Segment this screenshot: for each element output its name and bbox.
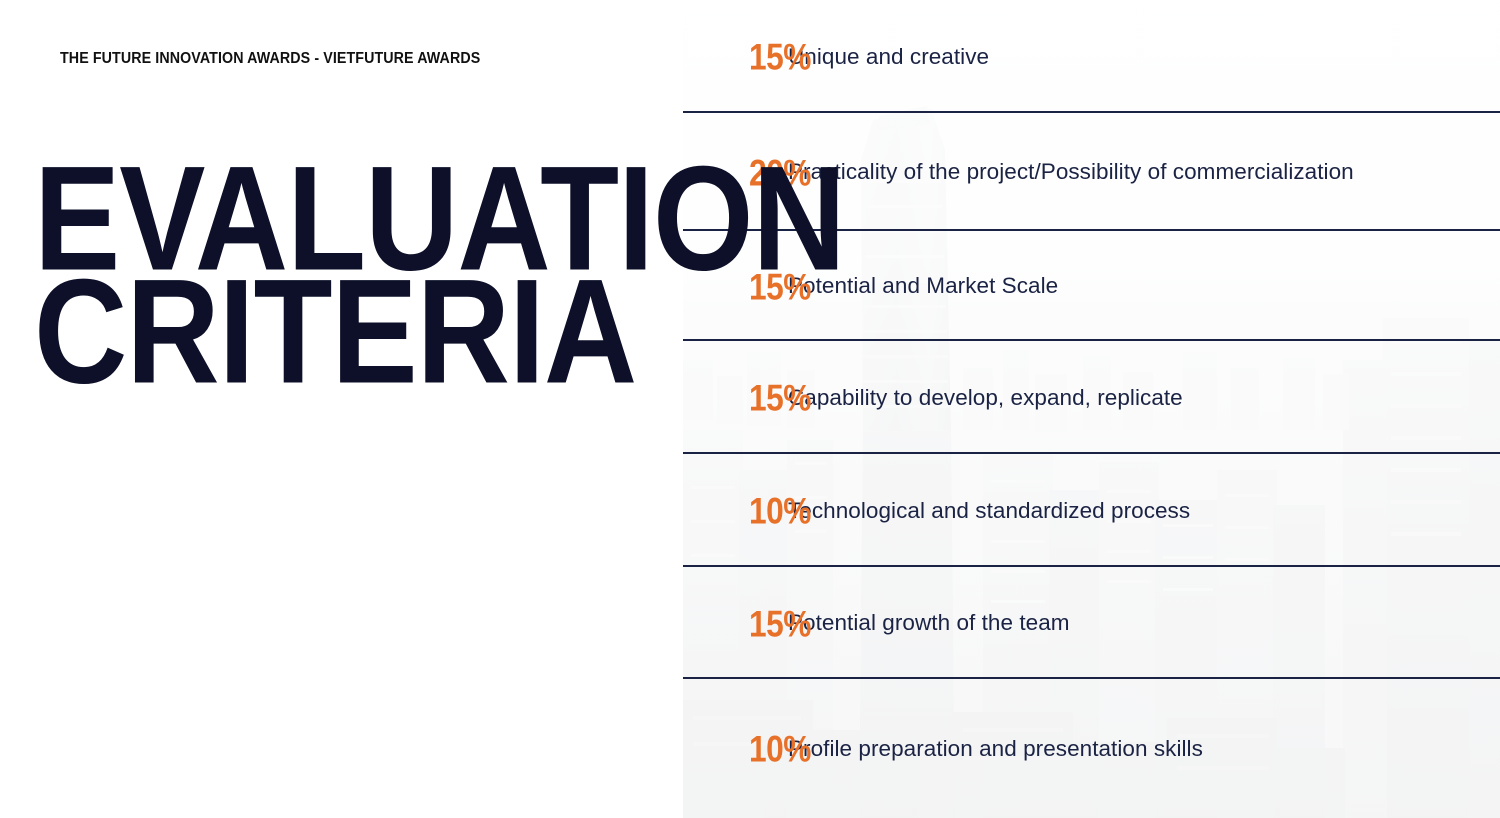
criteria-percent: 10% bbox=[683, 494, 788, 527]
page-title: EVALUATION CRITERIA bbox=[34, 150, 674, 377]
event-kicker-label: THE FUTURE INNOVATION AWARDS - VIETFUTUR… bbox=[60, 50, 480, 68]
title-panel: THE FUTURE INNOVATION AWARDS - VIETFUTUR… bbox=[0, 0, 683, 818]
criteria-label: Capability to develop, expand, replicate bbox=[788, 382, 1500, 414]
criteria-row-divider bbox=[683, 677, 1500, 679]
criteria-percent: 15% bbox=[683, 40, 788, 73]
criteria-row-divider bbox=[683, 339, 1500, 341]
criteria-row: 15%Potential growth of the team bbox=[683, 567, 1500, 679]
criteria-row: 10%Technological and standardized proces… bbox=[683, 454, 1500, 567]
criteria-label: Practicality of the project/Possibility … bbox=[788, 156, 1500, 188]
criteria-label: Unique and creative bbox=[788, 41, 1500, 73]
criteria-percent-text: 15% bbox=[749, 38, 811, 75]
criteria-row-divider bbox=[683, 565, 1500, 567]
criteria-label: Profile preparation and presentation ski… bbox=[788, 733, 1500, 765]
criteria-percent-text: 15% bbox=[749, 605, 811, 642]
criteria-list: 15%Unique and creative20%Practicality of… bbox=[683, 0, 1500, 818]
criteria-row: 15%Unique and creative bbox=[683, 0, 1500, 113]
criteria-panel: 15%Unique and creative20%Practicality of… bbox=[683, 0, 1500, 818]
criteria-row-divider bbox=[683, 452, 1500, 454]
criteria-percent-text: 10% bbox=[749, 730, 811, 767]
criteria-row-divider bbox=[683, 111, 1500, 113]
criteria-label: Technological and standardized process bbox=[788, 495, 1500, 527]
page-title-line-2: CRITERIA bbox=[34, 263, 712, 401]
criteria-row: 10%Profile preparation and presentation … bbox=[683, 679, 1500, 818]
criteria-percent: 15% bbox=[683, 607, 788, 640]
criteria-percent: 10% bbox=[683, 732, 788, 765]
criteria-label: Potential and Market Scale bbox=[788, 270, 1500, 302]
criteria-percent-text: 10% bbox=[749, 492, 811, 529]
criteria-row: 15%Capability to develop, expand, replic… bbox=[683, 341, 1500, 454]
criteria-label: Potential growth of the team bbox=[788, 607, 1500, 639]
criteria-percent-text: 15% bbox=[749, 379, 811, 416]
slide-canvas: 15%Unique and creative20%Practicality of… bbox=[0, 0, 1500, 818]
